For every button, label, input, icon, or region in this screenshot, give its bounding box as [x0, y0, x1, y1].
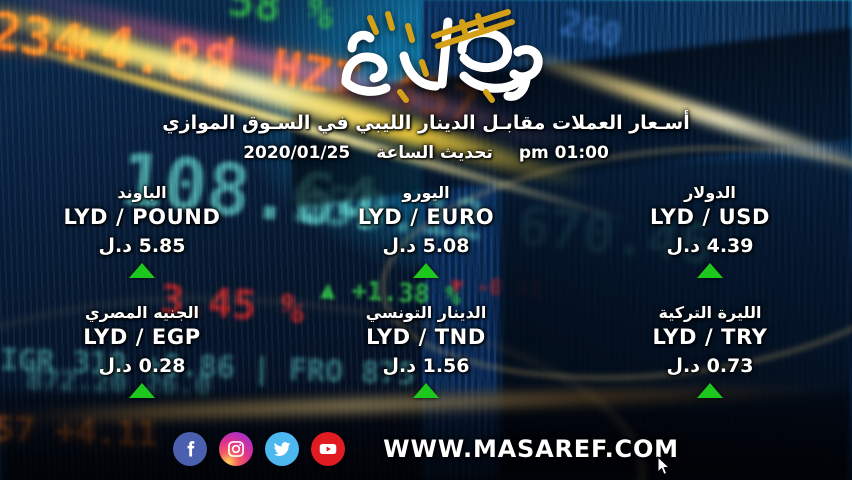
update-time: 01:00 pm — [519, 143, 609, 163]
value-number: 0.73 — [707, 355, 754, 377]
currency-pair: LYD / POUND — [64, 205, 221, 229]
currency-value: 1.56 د.ل — [383, 355, 470, 377]
value-unit: د.ل — [383, 355, 416, 377]
footer-bar: WWW.MASAREF.COM — [0, 418, 852, 480]
currency-name-ar: الليرة التركية — [658, 304, 761, 322]
triangle-up-icon — [413, 383, 439, 398]
update-date: 2020/01/25 — [243, 143, 350, 163]
triangle-up-icon — [697, 263, 723, 278]
rate-card-tnd[interactable]: الدينار التونسي LYD / TND 1.56 د.ل — [284, 298, 568, 418]
currency-value: 0.28 د.ل — [99, 355, 186, 377]
value-number: 0.28 — [139, 355, 186, 377]
website-url[interactable]: WWW.MASAREF.COM — [383, 435, 679, 463]
currency-name-ar: الدينار التونسي — [366, 304, 487, 322]
rate-card-egp[interactable]: الجنيه المصري LYD / EGP 0.28 د.ل — [0, 298, 284, 418]
rate-card-pound[interactable]: الباوند LYD / POUND 5.85 د.ل — [0, 178, 284, 298]
currency-rates-grid: الدولار LYD / USD 4.39 د.ل اليورو LYD / … — [0, 178, 852, 418]
rate-card-usd[interactable]: الدولار LYD / USD 4.39 د.ل — [568, 178, 852, 298]
currency-pair: LYD / EGP — [83, 325, 200, 349]
currency-pair: LYD / TND — [366, 325, 486, 349]
currency-value: 0.73 د.ل — [667, 355, 754, 377]
currency-name-ar: الباوند — [117, 184, 166, 202]
page-title: أسـعار العملات مقابـل الدينار الليبي في … — [0, 112, 852, 134]
currency-name-ar: اليورو — [402, 184, 449, 202]
triangle-up-icon — [697, 383, 723, 398]
youtube-icon[interactable] — [311, 432, 345, 466]
mouse-pointer — [657, 456, 671, 476]
currency-value: 5.85 د.ل — [99, 235, 186, 257]
triangle-up-icon — [129, 383, 155, 398]
currency-pair: LYD / USD — [650, 205, 770, 229]
rate-card-try[interactable]: الليرة التركية LYD / TRY 0.73 د.ل — [568, 298, 852, 418]
value-unit: د.ل — [667, 235, 700, 257]
value-number: 5.08 — [423, 235, 470, 257]
value-unit: د.ل — [667, 355, 700, 377]
value-number: 5.85 — [139, 235, 186, 257]
value-number: 1.56 — [423, 355, 470, 377]
currency-pair: LYD / TRY — [653, 325, 768, 349]
twitter-icon[interactable] — [265, 432, 299, 466]
value-number: 4.39 — [707, 235, 754, 257]
currency-pair: LYD / EURO — [358, 205, 494, 229]
update-label: تحديث الساعة — [376, 143, 493, 163]
currency-name-ar: الجنيه المصري — [85, 304, 199, 322]
tv-ticker-screen: 234 +4.88 | HZI 457 58 % 260 108.64 959.… — [0, 0, 852, 480]
value-unit: د.ل — [383, 235, 416, 257]
currency-name-ar: الدولار — [684, 184, 736, 202]
currency-value: 5.08 د.ل — [383, 235, 470, 257]
value-unit: د.ل — [99, 235, 132, 257]
triangle-up-icon — [129, 263, 155, 278]
triangle-up-icon — [413, 263, 439, 278]
rate-card-euro[interactable]: اليورو LYD / EURO 5.08 د.ل — [284, 178, 568, 298]
update-line: 01:00 pm تحديث الساعة 2020/01/25 — [0, 143, 852, 163]
masaref-logo[interactable] — [310, 0, 550, 110]
currency-value: 4.39 د.ل — [667, 235, 754, 257]
facebook-icon[interactable] — [173, 432, 207, 466]
instagram-icon[interactable] — [219, 432, 253, 466]
value-unit: د.ل — [99, 355, 132, 377]
